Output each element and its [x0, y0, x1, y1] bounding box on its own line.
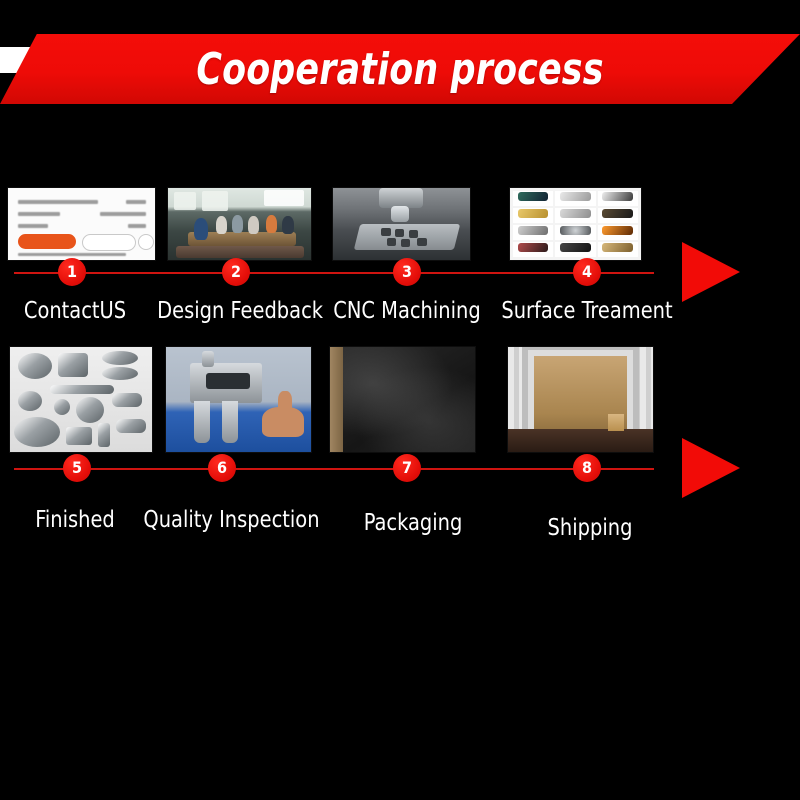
step-label-5: Finished: [8, 507, 141, 533]
step-label-3: CNC Machining: [331, 298, 483, 324]
step-thumbnail-6[interactable]: [166, 347, 311, 452]
packaging-edge: [330, 347, 343, 452]
header-banner: Cooperation process: [0, 0, 800, 130]
step-label-7: Packaging: [335, 510, 491, 536]
metal-parts-photo: [10, 347, 152, 452]
caliper-inspection-photo: [166, 347, 311, 452]
step-badge-6[interactable]: 6: [208, 454, 236, 482]
step-badge-1[interactable]: 1: [58, 258, 86, 286]
step-thumbnail-3[interactable]: [333, 188, 470, 260]
step-thumbnail-8[interactable]: [508, 347, 653, 452]
step-thumbnail-2[interactable]: [168, 188, 311, 260]
page-title: Cooperation process: [48, 34, 752, 104]
step-thumbnail-5[interactable]: [10, 347, 152, 452]
step-thumbnail-7[interactable]: [330, 347, 475, 452]
row2-timeline-track: [14, 468, 654, 470]
step-badge-4[interactable]: 4: [573, 258, 601, 286]
cooperation-process-banner: Cooperation process: [0, 0, 800, 800]
row1-timeline-track: [14, 272, 654, 274]
row2-right-arrow-icon: [682, 438, 740, 498]
process-row-1: 1 2 3 4 ContactUS Design Feedback CNC Ma…: [0, 170, 800, 330]
row1-right-arrow-icon: [682, 242, 740, 302]
step-label-2: Design Feedback: [157, 298, 319, 324]
step-label-6: Quality Inspection: [143, 507, 312, 533]
cnc-machine-photo: [333, 188, 470, 260]
packaging-texture-photo: [330, 347, 475, 452]
step-badge-2[interactable]: 2: [222, 258, 250, 286]
surface-finish-grid: [510, 188, 641, 260]
shipping-container-photo: [508, 347, 653, 452]
step-label-8: Shipping: [505, 515, 674, 541]
step-label-1: ContactUS: [5, 298, 146, 324]
step-thumbnail-1[interactable]: [8, 188, 155, 260]
product-listing-card: [8, 188, 155, 260]
step-badge-7[interactable]: 7: [393, 454, 421, 482]
step-badge-8[interactable]: 8: [573, 454, 601, 482]
cta-area: GO Contact Supplier: [0, 640, 800, 770]
office-meeting-photo: [168, 188, 311, 260]
step-label-4: Surface Treament: [500, 298, 675, 324]
step-thumbnail-4[interactable]: [510, 188, 641, 260]
step-badge-3[interactable]: 3: [393, 258, 421, 286]
step-badge-5[interactable]: 5: [63, 454, 91, 482]
process-row-2: 5 6 7 8 Finished Quality Inspection Pack…: [0, 335, 800, 535]
